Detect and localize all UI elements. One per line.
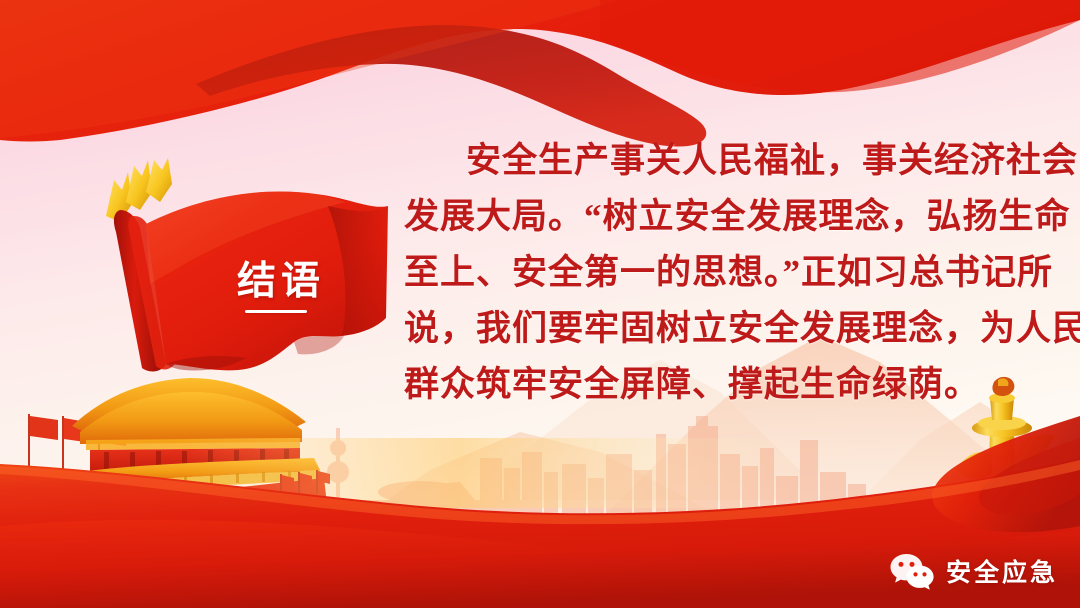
wechat-icon[interactable] [889, 552, 935, 590]
tiananmen-banner: 中华人民共和国万岁 [106, 498, 218, 528]
poster-canvas: 中华人民共和国万岁 [0, 0, 1080, 608]
red-flag-icon [88, 158, 398, 393]
golden-spear-finial [106, 158, 172, 222]
quote-line-3: 至上、安全第一的思想。”正如习总书记所 [404, 245, 1020, 301]
quote-line-2: 发展大局。“树立安全发展理念，弘扬生命 [404, 189, 1020, 245]
wechat-account-mark[interactable]: 安全应急 [889, 552, 1058, 590]
small-flags-left [28, 414, 126, 472]
wechat-account-name: 安全应急 [946, 553, 1058, 589]
section-flag-emblem [88, 158, 398, 393]
quote-line-5: 群众筑牢安全屏障、撑起生命绿荫。 [404, 357, 1020, 413]
svg-text:中华人民共和国万岁: 中华人民共和国万岁 [111, 501, 202, 522]
city-skyline-icon [300, 410, 1000, 520]
quote-line-4: 说，我们要牢固树立安全发展理念，为人民 [404, 301, 1020, 357]
tiananmen-landmark: 中华人民共和国万岁 [0, 370, 334, 570]
small-flags-right [280, 470, 330, 498]
quote-line-1: 安全生产事关人民福祉，事关经济社会 [404, 133, 1020, 189]
quote-block: 安全生产事关人民福祉，事关经济社会 发展大局。“树立安全发展理念，弘扬生命 至上… [404, 133, 1020, 413]
